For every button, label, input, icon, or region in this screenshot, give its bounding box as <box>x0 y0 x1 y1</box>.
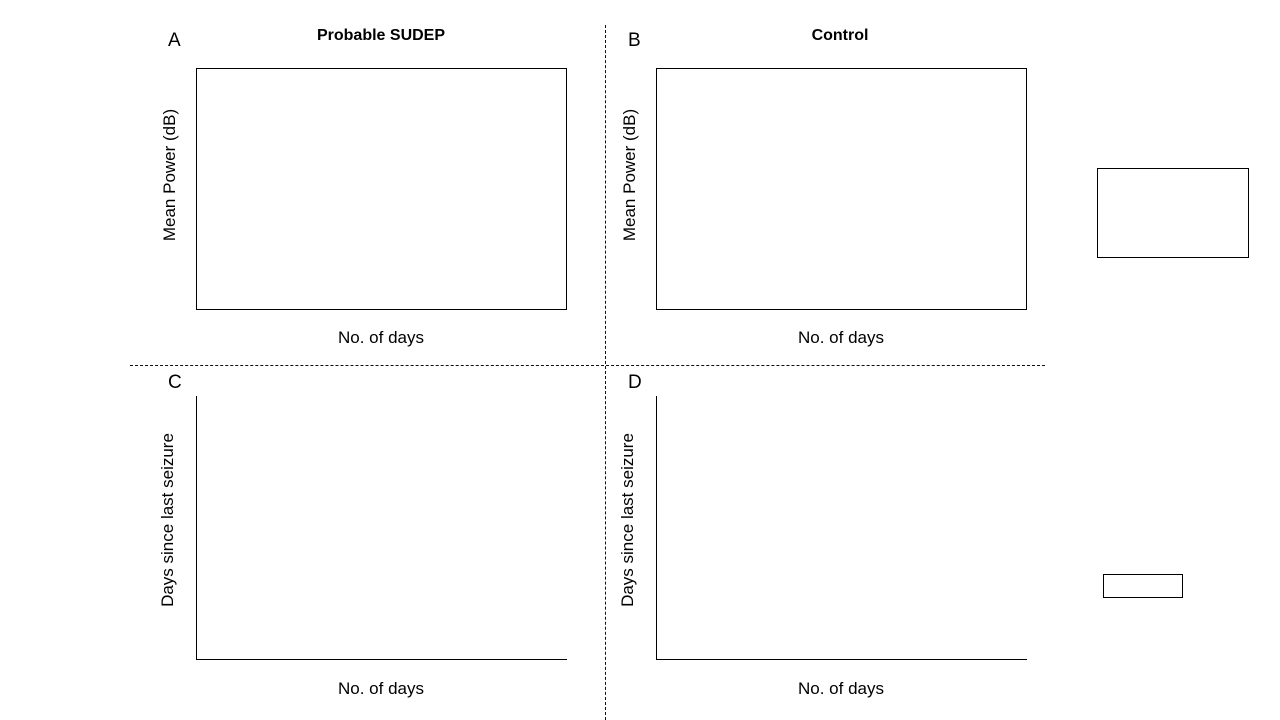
panel-c-plot-svg <box>197 396 567 660</box>
panel-d-ylabel: Days since last seizure <box>618 390 638 650</box>
panel-b-letter: B <box>628 30 641 52</box>
panel-d-plot-area[interactable] <box>656 396 1027 660</box>
legend-mean-panels[interactable] <box>1103 574 1183 598</box>
panel-b-ylabel: Mean Power (dB) <box>620 60 640 290</box>
panel-a-plot-area[interactable] <box>196 68 567 310</box>
panel-c-xlabel: No. of days <box>246 679 516 699</box>
figure-canvas: A Probable SUDEP Mean Power (dB) No. of … <box>0 0 1280 720</box>
panel-a-plot-svg <box>197 69 567 310</box>
panel-d-plot-svg <box>657 396 1027 660</box>
panel-a-title: Probable SUDEP <box>266 27 496 45</box>
panel-d-xlabel: No. of days <box>706 679 976 699</box>
panel-b-plot-area[interactable] <box>656 68 1027 310</box>
horizontal-divider <box>130 365 1045 366</box>
panel-b-xlabel: No. of days <box>706 328 976 348</box>
panel-b-title: Control <box>745 27 935 45</box>
panel-c-ylabel: Days since last seizure <box>158 390 178 650</box>
vertical-divider <box>605 25 606 720</box>
panel-b-plot-svg <box>657 69 1027 310</box>
panel-a-ylabel: Mean Power (dB) <box>160 60 180 290</box>
panel-c-plot-area[interactable] <box>196 396 567 660</box>
panel-a-xlabel: No. of days <box>246 328 516 348</box>
legend-power-panels[interactable] <box>1097 168 1249 258</box>
panel-a-letter: A <box>168 30 181 52</box>
